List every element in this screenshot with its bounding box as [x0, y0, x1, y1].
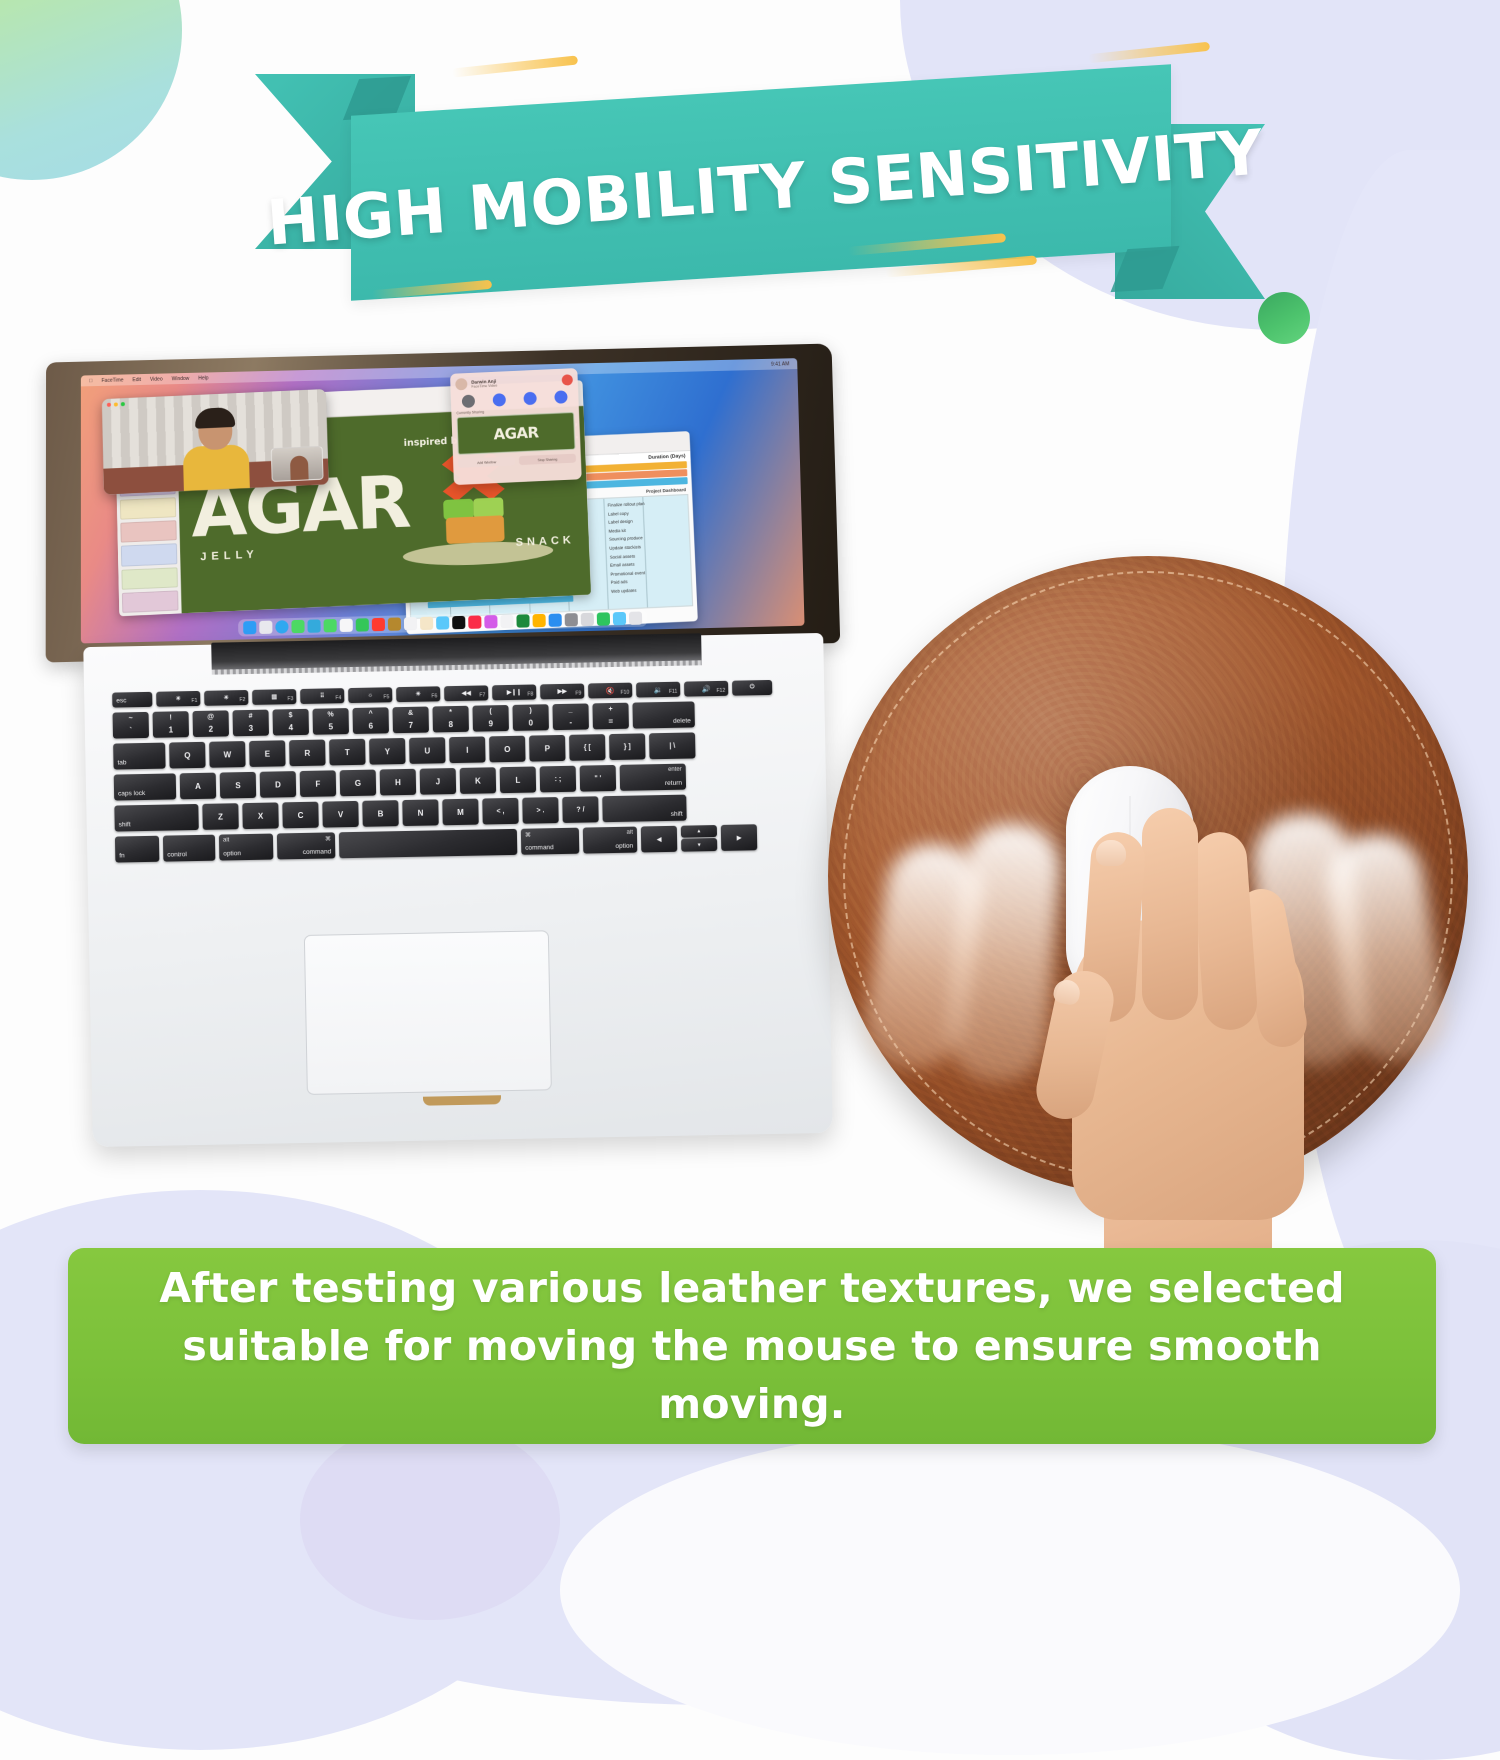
decor-blob-purple-soft [300, 1420, 560, 1620]
key-f8-playpause[interactable]: ▶❙❙F8 [492, 684, 536, 700]
trackpad[interactable] [304, 930, 552, 1095]
stop-sharing-button[interactable]: Stop Sharing [519, 454, 576, 466]
key-f3-mission-control[interactable]: ▥F3 [252, 689, 296, 705]
gantt-task-label: Email assets [610, 559, 688, 568]
gantt-task-label: Sourcing produce [609, 534, 687, 543]
key-z[interactable]: Z [202, 803, 238, 830]
key-0[interactable]: )0 [512, 704, 548, 731]
menubar-app-name: FaceTime [102, 377, 124, 383]
macos-menubar:  FaceTime Edit Video Window Help 9:41 A… [81, 358, 797, 386]
gantt-task-label: Finalize rollout plan [607, 499, 685, 508]
key-e[interactable]: E [249, 740, 285, 767]
key-n[interactable]: N [402, 799, 438, 826]
menubar-item[interactable]: Video [150, 376, 163, 382]
laptop-photo:  FaceTime Edit Video Window Help 9:41 A… [30, 352, 840, 1172]
key-shift-left[interactable]: shift [114, 804, 198, 832]
keyboard[interactable]: esc ☀F1 ☀F2 ▥F3 ⠿F4 ☼F5 ☀F6 ◀◀F7 ▶❙❙F8 [112, 679, 805, 867]
contacts-icon[interactable] [404, 617, 417, 630]
appletv-icon[interactable] [452, 616, 465, 629]
share-preview[interactable]: AGAR [457, 412, 576, 455]
freeform-icon[interactable] [420, 617, 433, 630]
key-command-left[interactable]: ⌘ command [277, 832, 335, 859]
key-f5-keyboard-backlight-down[interactable]: ☼F5 [348, 687, 392, 703]
key-backslash[interactable]: | \ [649, 732, 695, 759]
key-shift-right[interactable]: shift [602, 795, 686, 823]
key-1[interactable]: !1 [153, 711, 189, 738]
key-d[interactable]: D [260, 771, 296, 798]
calendar-icon[interactable] [356, 618, 369, 631]
downloads-icon[interactable] [613, 612, 626, 625]
key-comma[interactable]: < , [482, 798, 518, 825]
key-esc[interactable]: esc [112, 692, 152, 708]
camera-toggle-icon[interactable] [462, 395, 475, 408]
key-i[interactable]: I [449, 736, 485, 763]
key-arrow-right[interactable]: ▶ [721, 824, 757, 851]
share-buttons-row: Add Window Stop Sharing [458, 454, 576, 468]
laptop-base: esc ☀F1 ☀F2 ▥F3 ⠿F4 ☼F5 ☀F6 ◀◀F7 ▶❙❙F8 [83, 633, 832, 1147]
participant-body [183, 444, 250, 493]
reminders-icon[interactable] [372, 618, 385, 631]
participant-status: FaceTime Video [471, 383, 497, 388]
avatar [455, 378, 467, 390]
safari-icon[interactable] [275, 620, 288, 633]
key-quote[interactable]: " ' [580, 765, 616, 792]
key-bracket-right[interactable]: } ] [609, 733, 645, 760]
mousepad-photo [828, 556, 1496, 1226]
launchpad-icon[interactable] [259, 621, 272, 634]
notes-icon[interactable] [388, 617, 401, 630]
key-r[interactable]: R [289, 740, 325, 767]
mail-icon[interactable] [307, 619, 320, 632]
key-bracket-left[interactable]: { [ [569, 734, 605, 761]
facetime-icon[interactable] [324, 619, 337, 632]
finder-icon[interactable] [243, 621, 256, 634]
key-6[interactable]: ^6 [352, 707, 388, 734]
caption-banner: After testing various leather textures, … [68, 1248, 1436, 1444]
key-backtick[interactable]: ~` [113, 712, 149, 739]
messages-icon[interactable] [291, 620, 304, 633]
key-w[interactable]: W [209, 741, 245, 768]
key-f[interactable]: F [300, 770, 336, 797]
numbers-icon[interactable] [597, 612, 610, 625]
key-f12-volume-up[interactable]: 🔊F12 [684, 681, 728, 697]
gantt-task-labels: Finalize rollout plan Label copy Label d… [607, 499, 689, 594]
zoom-icon[interactable] [121, 402, 125, 406]
key-arrow-left[interactable]: ◀ [641, 826, 677, 853]
key-f9-fastforward[interactable]: ▶▶F9 [540, 684, 584, 700]
key-9[interactable]: (9 [472, 705, 508, 732]
hangup-button[interactable] [562, 374, 573, 385]
menubar-clock: 9:41 AM [771, 361, 789, 367]
key-j[interactable]: J [420, 768, 456, 795]
key-f2-brightness-up[interactable]: ☀F2 [204, 690, 248, 706]
slide-thumbnail[interactable] [121, 567, 178, 590]
share-preview-title: AGAR [493, 423, 539, 443]
key-4[interactable]: $4 [273, 709, 309, 736]
key-f4-launchpad[interactable]: ⠿F4 [300, 688, 344, 704]
apple-logo-icon:  [89, 378, 93, 384]
key-x[interactable]: X [242, 802, 278, 829]
accent-streak-icon [1088, 42, 1210, 64]
gantt-task-label: Label copy [608, 508, 686, 517]
gantt-task-label: Paid ads [611, 577, 689, 586]
slide-left-label: JELLY [200, 548, 259, 563]
menubar-item[interactable]: Window [172, 375, 190, 381]
video-button[interactable] [493, 393, 506, 406]
key-5[interactable]: %5 [312, 708, 348, 735]
share-screen-button[interactable] [554, 390, 567, 403]
key-3[interactable]: #3 [233, 710, 269, 737]
key-command-right[interactable]: ⌘ command [521, 828, 579, 855]
minimize-icon[interactable] [114, 402, 118, 406]
photos-icon[interactable] [340, 619, 353, 632]
key-slash[interactable]: ? / [562, 796, 598, 823]
key-2[interactable]: @2 [193, 710, 229, 737]
key-arrow-down[interactable]: ▼ [681, 838, 717, 852]
decor-green-dot [1258, 292, 1310, 344]
laptop-lid:  FaceTime Edit Video Window Help 9:41 A… [46, 343, 841, 662]
key-g[interactable]: G [340, 770, 376, 797]
key-v[interactable]: V [322, 801, 358, 828]
decor-blob-bottom-wave-light [560, 1425, 1460, 1755]
slide-right-label: SNACK [515, 534, 575, 549]
gantt-col-duration: Duration (Days) [648, 453, 685, 461]
key-period[interactable]: > . [522, 797, 558, 824]
key-equals[interactable]: += [592, 703, 628, 730]
podcasts-icon[interactable] [484, 615, 497, 628]
key-arrow-up[interactable]: ▲ [681, 825, 717, 838]
gantt-task-label: Web updates [611, 585, 689, 594]
key-f11-volume-down[interactable]: 🔉F11 [636, 682, 680, 698]
key-c[interactable]: C [282, 802, 318, 829]
add-window-button[interactable]: Add Window [458, 456, 515, 468]
key-power[interactable]: ⏻ [732, 680, 772, 696]
music-icon[interactable] [468, 615, 481, 628]
facetime-window-controls [107, 402, 125, 407]
key-p[interactable]: P [529, 735, 565, 762]
settings-icon[interactable] [565, 613, 578, 626]
key-y[interactable]: Y [369, 738, 405, 765]
key-a[interactable]: A [180, 773, 216, 800]
gantt-task-label: Media kit [609, 525, 687, 534]
hand [1024, 792, 1364, 1262]
keynote-icon[interactable] [532, 614, 545, 627]
slide-thumbnail[interactable] [121, 543, 178, 566]
maps-icon[interactable] [436, 616, 449, 629]
finger-middle [1142, 808, 1198, 1020]
key-8[interactable]: *8 [432, 706, 468, 733]
key-l[interactable]: L [500, 766, 536, 793]
caption-text: After testing various leather textures, … [126, 1259, 1378, 1433]
slide-thumbnail[interactable] [120, 497, 176, 520]
share-panel-actions [456, 390, 574, 408]
gantt-task-label: Update stockists [609, 542, 687, 551]
headline-banner: HIGH MOBILITY SENSITIVITY [255, 62, 1255, 297]
key-m[interactable]: M [442, 799, 478, 826]
laptop-screen:  FaceTime Edit Video Window Help 9:41 A… [81, 358, 805, 643]
key-f1-brightness-down[interactable]: ☀F1 [156, 691, 200, 707]
key-control[interactable]: control [163, 835, 215, 862]
preview-icon[interactable] [581, 613, 594, 626]
hinge-vent [212, 660, 702, 674]
key-f10-mute[interactable]: 🔇F10 [588, 683, 632, 699]
key-u[interactable]: U [409, 737, 445, 764]
key-option-right[interactable]: alt option [583, 827, 637, 854]
key-f6-keyboard-backlight-up[interactable]: ☀F6 [396, 686, 440, 702]
lid-open-notch [423, 1095, 501, 1105]
key-caps-lock[interactable]: caps lock [114, 773, 176, 800]
key-b[interactable]: B [362, 800, 398, 827]
stocks-icon[interactable] [516, 614, 529, 627]
jelly-cube [446, 515, 505, 544]
appstore-icon[interactable] [549, 613, 562, 626]
close-icon[interactable] [107, 403, 111, 407]
decor-blob-top-left [0, 0, 182, 180]
key-semicolon[interactable]: : ; [540, 766, 576, 793]
slide-thumbnail[interactable] [120, 520, 177, 543]
key-option-left[interactable]: alt option [219, 834, 273, 861]
key-s[interactable]: S [220, 772, 256, 799]
trash-icon[interactable] [629, 612, 642, 625]
key-q[interactable]: Q [169, 742, 205, 769]
self-view-person [290, 455, 309, 482]
share-panel-header: Darwin Anji FaceTime Video [455, 373, 573, 390]
key-7[interactable]: &7 [392, 707, 428, 734]
facetime-video-window[interactable] [102, 389, 329, 495]
key-t[interactable]: T [329, 739, 365, 766]
menubar-item[interactable]: Help [198, 375, 208, 381]
participant-hair [195, 407, 235, 429]
info-button[interactable] [523, 392, 536, 405]
key-tab[interactable]: tab [113, 743, 165, 770]
gantt-task-label: Promotional event [610, 568, 688, 577]
key-k[interactable]: K [460, 767, 496, 794]
key-o[interactable]: O [489, 736, 525, 763]
key-minus[interactable]: _- [552, 703, 588, 730]
key-return[interactable]: enter return [620, 764, 686, 791]
key-delete[interactable]: delete [632, 701, 694, 728]
key-space[interactable] [339, 829, 517, 858]
facetime-share-panel[interactable]: Darwin Anji FaceTime Video Currently Sha… [450, 368, 582, 485]
menubar-item[interactable]: Edit [132, 377, 141, 383]
key-f7-rewind[interactable]: ◀◀F7 [444, 685, 488, 701]
facetime-participant [180, 408, 252, 491]
key-fn[interactable]: fn [115, 836, 159, 863]
fingernail [1096, 840, 1126, 866]
news-icon[interactable] [500, 615, 513, 628]
slide-thumbnail[interactable] [122, 590, 179, 613]
gantt-task-label: Social assets [610, 551, 688, 560]
key-h[interactable]: H [380, 769, 416, 796]
gantt-task-label: Label design [608, 516, 686, 525]
facetime-self-view[interactable] [271, 446, 324, 482]
